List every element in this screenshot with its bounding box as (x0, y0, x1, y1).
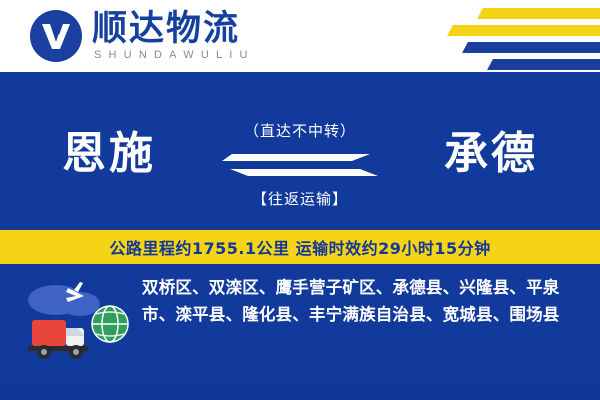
stripe-blue-2 (487, 59, 600, 70)
truck-globe-plane-icon (22, 276, 134, 368)
destination-city: 承德 (444, 128, 538, 180)
distance-duration-text: 公路里程约1755.1公里 运输时效约29小时15分钟 (109, 235, 490, 259)
distance-duration-band: 公路里程约1755.1公里 运输时效约29小时15分钟 (0, 230, 600, 264)
brand-pinyin: SHUNDAWULIU (94, 49, 255, 61)
origin-city: 恩施 (62, 128, 156, 180)
stripe-yellow-2 (447, 25, 600, 36)
stripe-yellow-1 (477, 8, 600, 19)
header-stripes-decoration (370, 0, 600, 72)
route-section: （直达不中转） 恩施 承德 【往返运输】 (0, 72, 600, 230)
double-arrow-icon (222, 148, 378, 182)
w-arrow-logo-icon (30, 10, 82, 62)
poster-header: 顺达物流 SHUNDAWULIU (0, 0, 600, 72)
coverage-areas-text: 双桥区、双滦区、鹰手营子矿区、承德县、兴隆县、平泉市、滦平县、隆化县、丰宁满族自… (142, 274, 582, 328)
coverage-section: 双桥区、双滦区、鹰手营子矿区、承德县、兴隆县、平泉市、滦平县、隆化县、丰宁满族自… (0, 264, 600, 400)
logistics-route-poster: 顺达物流 SHUNDAWULIU （直达不中转） 恩施 承德 【往返运输】 公路… (0, 0, 600, 400)
footer-rule (0, 386, 600, 400)
brand-name: 顺达物流 (92, 10, 240, 48)
route-note-roundtrip: 【往返运输】 (0, 188, 600, 209)
stripe-blue-1 (462, 42, 600, 53)
